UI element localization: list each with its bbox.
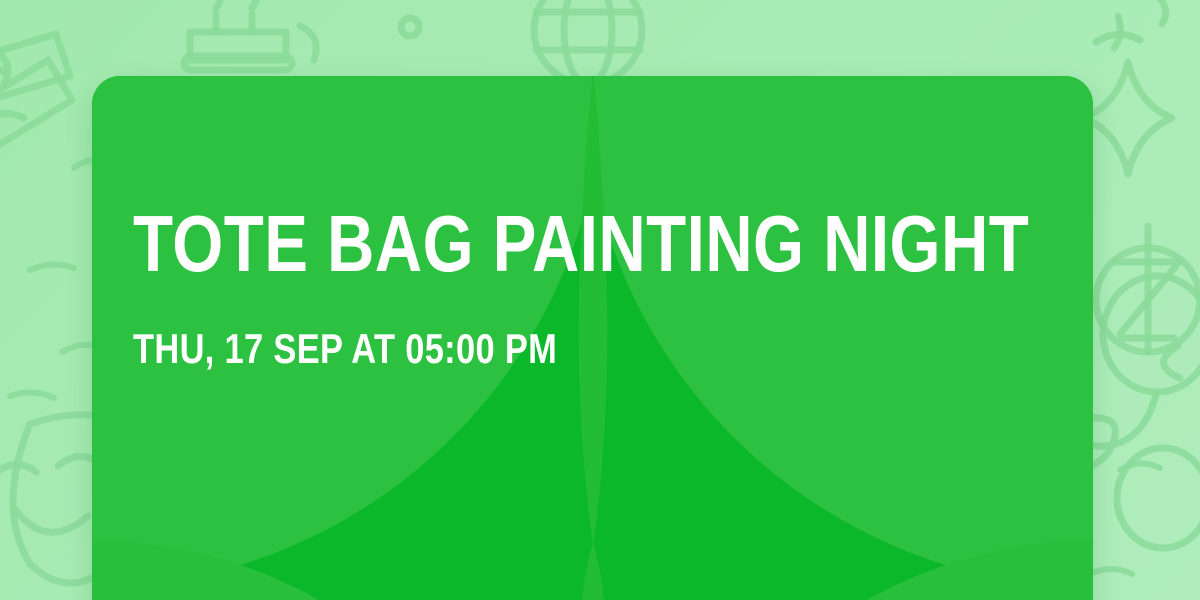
confetti-dash-icon (1114, 16, 1120, 48)
cake-icon (184, 0, 316, 70)
confetti-dash-icon (1090, 569, 1132, 574)
confetti-dash-icon (1096, 34, 1140, 42)
confetti-dash-icon (1160, 0, 1166, 24)
ticket-icon (0, 60, 72, 148)
lantern-icon (1096, 226, 1200, 352)
event-text-block: TOTE BAG PAINTING NIGHT THU, 17 SEP AT 0… (133, 204, 1033, 370)
event-banner: TOTE BAG PAINTING NIGHT THU, 17 SEP AT 0… (0, 0, 1200, 600)
confetti-dash-icon (1120, 463, 1160, 470)
event-datetime: THU, 17 SEP AT 05:00 PM (133, 328, 871, 370)
confetti-dash-icon (10, 392, 54, 398)
confetti-dash-icon (30, 264, 74, 270)
sparkle-icon (1084, 62, 1172, 174)
ticket-icon (0, 34, 70, 104)
globe-icon (534, 0, 642, 84)
event-card[interactable]: TOTE BAG PAINTING NIGHT THU, 17 SEP AT 0… (92, 76, 1093, 600)
small-circle-icon (401, 18, 419, 36)
balloon-icon (1117, 448, 1200, 548)
event-title: TOTE BAG PAINTING NIGHT (133, 204, 871, 284)
